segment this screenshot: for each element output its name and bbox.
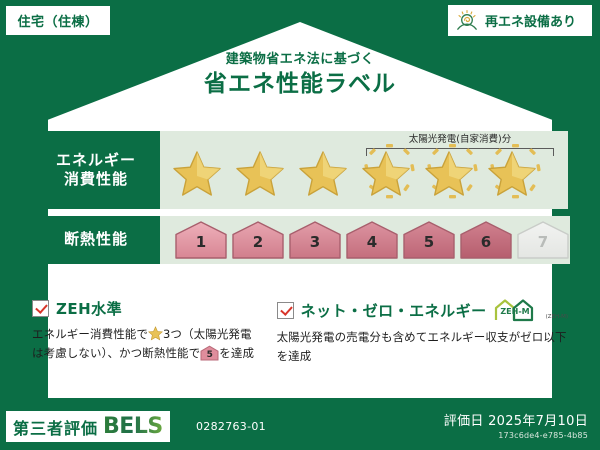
star-2 [229, 142, 291, 204]
star-5 [418, 142, 480, 204]
insulation-performance-row: 断熱性能 1 2 3 [32, 216, 568, 264]
renewable-badge-label: 再エネ設備あり [485, 11, 576, 30]
svg-text:ZEH-M: ZEH-M [500, 307, 529, 316]
criterion-zeh-text: エネルギー消費性能で3つ（太陽光発電は考慮しない）、かつ断熱性能で5を達成 [32, 325, 261, 363]
criterion-net-zero-title: ネット・ゼロ・エネルギー [301, 300, 487, 321]
ratings-section: エネルギー 消費性能 太陽光発電(自家消費)分 [32, 131, 568, 264]
insulation-performance-label: 断熱性能 [32, 216, 160, 264]
inline-grade-value: 5 [200, 348, 219, 363]
bels-logo-text: BELS [103, 414, 163, 439]
insulation-grade-4: 4 [345, 220, 399, 260]
star-rating-group [160, 142, 568, 204]
zeh-checkbox-checked-icon[interactable] [32, 300, 49, 317]
insulation-performance-body: 1 2 3 4 [160, 216, 570, 264]
renewable-equipment-badge: 再エネ設備あり [448, 5, 592, 36]
star-icon [481, 142, 543, 204]
insulation-grade-value: 2 [231, 233, 285, 251]
sun-solar-icon [454, 9, 480, 33]
star-6 [481, 142, 543, 204]
star-1 [166, 142, 228, 204]
insulation-grade-3: 3 [288, 220, 342, 260]
energy-performance-label: エネルギー 消費性能 [32, 131, 160, 209]
bels-certificate-number: 0282763-01 [196, 420, 266, 433]
insulation-grade-group: 1 2 3 4 [160, 220, 570, 260]
energy-performance-row: エネルギー 消費性能 太陽光発電(自家消費)分 [32, 131, 568, 209]
insulation-grade-6: 6 [459, 220, 513, 260]
net-zero-checkbox-checked-icon[interactable] [277, 302, 294, 319]
document-hash: 173c6de4-e785-4b85 [444, 431, 588, 440]
criterion-net-zero-text: 太陽光発電の売電分も含めてエネルギー収支がゼロ以下を達成 [277, 328, 568, 366]
star-icon [292, 142, 354, 204]
star-4 [355, 142, 417, 204]
criterion-zeh: ZEH水準 エネルギー消費性能で3つ（太陽光発電は考慮しない）、かつ断熱性能で5… [32, 298, 261, 366]
criterion-zeh-header: ZEH水準 [32, 298, 261, 319]
star-icon [418, 142, 480, 204]
page-title: 省エネ性能ラベル [0, 70, 600, 99]
criteria-section: ZEH水準 エネルギー消費性能で3つ（太陽光発電は考慮しない）、かつ断熱性能で5… [32, 298, 568, 366]
insulation-grade-value: 5 [402, 233, 456, 251]
insulation-grade-value: 1 [174, 233, 228, 251]
footer-right-block: 評価日 2025年7月10日 173c6de4-e785-4b85 [444, 410, 588, 440]
insulation-grade-7: 7 [516, 220, 570, 260]
energy-label-card: 住宅（住棟） 再エネ設備あり 建築物省エネ法に基づく 省エネ性能ラベル エネルギ… [0, 0, 600, 450]
energy-performance-body: 太陽光発電(自家消費)分 [160, 131, 568, 209]
insulation-grade-2: 2 [231, 220, 285, 260]
insulation-grade-5: 5 [402, 220, 456, 260]
star-icon [229, 142, 291, 204]
star-icon [166, 142, 228, 204]
bels-footer-badge: 第三者評価 BELS [6, 411, 170, 442]
evaluation-date: 評価日 2025年7月10日 [444, 410, 588, 429]
inline-star-icon [148, 326, 163, 341]
criterion-net-zero: ネット・ゼロ・エネルギー ZEH-M (ZEH-M) 太陽光発電の売電分も含めて… [277, 298, 568, 366]
third-party-label: 第三者評価 [13, 415, 98, 439]
building-type-tag: 住宅（住棟） [6, 6, 110, 35]
inline-grade-badge: 5 [200, 345, 219, 361]
title-subtitle: 建築物省エネ法に基づく [0, 52, 600, 68]
building-type-label: 住宅（住棟） [17, 11, 98, 30]
star-icon [355, 142, 417, 204]
title-block: 建築物省エネ法に基づく 省エネ性能ラベル [0, 52, 600, 98]
star-3 [292, 142, 354, 204]
insulation-grade-value: 7 [516, 233, 570, 251]
criterion-net-zero-header: ネット・ゼロ・エネルギー ZEH-M (ZEH-M) [277, 298, 568, 322]
insulation-grade-value: 4 [345, 233, 399, 251]
zeh-m-logo-sublabel: (ZEH-M) [546, 314, 568, 322]
zeh-m-logo-icon: ZEH-M [492, 298, 538, 322]
insulation-grade-value: 3 [288, 233, 342, 251]
insulation-grade-1: 1 [174, 220, 228, 260]
criterion-zeh-title: ZEH水準 [56, 298, 122, 319]
insulation-grade-value: 6 [459, 233, 513, 251]
